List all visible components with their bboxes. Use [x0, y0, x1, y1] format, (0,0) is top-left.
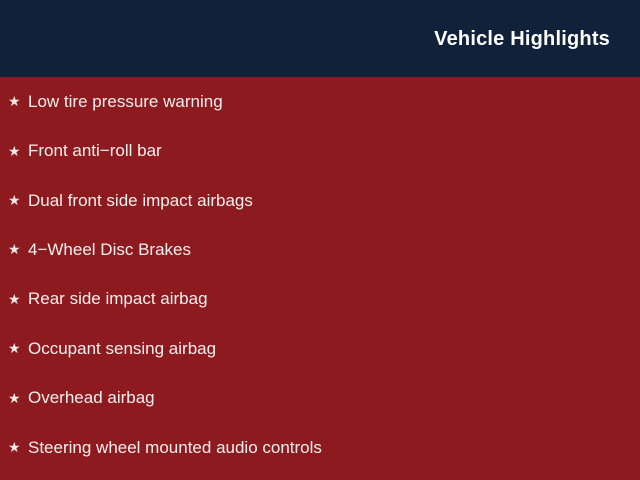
star-icon: ★ [8, 242, 28, 256]
list-item: ★ Steering wheel mounted audio controls [0, 423, 640, 472]
star-icon: ★ [8, 144, 28, 158]
list-item-label: Steering wheel mounted audio controls [28, 438, 640, 458]
star-icon: ★ [8, 341, 28, 355]
list-item: ★ 4−Wheel Disc Brakes [0, 225, 640, 274]
list-item-label: Rear side impact airbag [28, 289, 640, 309]
list-item-label: Low tire pressure warning [28, 92, 640, 112]
list-item-label: 4−Wheel Disc Brakes [28, 240, 640, 260]
star-icon: ★ [8, 440, 28, 454]
star-icon: ★ [8, 94, 28, 108]
list-item: ★ Dual front side impact airbags [0, 176, 640, 225]
list-item: ★ Front anti−roll bar [0, 126, 640, 175]
list-item: ★ Overhead airbag [0, 373, 640, 422]
star-icon: ★ [8, 292, 28, 306]
list-item-label: Front anti−roll bar [28, 141, 640, 161]
list-item: ★ Occupant sensing airbag [0, 324, 640, 373]
star-icon: ★ [8, 193, 28, 207]
vehicle-highlights-list: ★ Low tire pressure warning ★ Front anti… [0, 77, 640, 472]
page-title: Vehicle Highlights [434, 29, 610, 49]
list-item-label: Overhead airbag [28, 388, 640, 408]
slide-header: Vehicle Highlights [0, 0, 640, 77]
list-item: ★ Rear side impact airbag [0, 275, 640, 324]
vehicle-highlights-slide: Vehicle Highlights ★ Low tire pressure w… [0, 0, 640, 480]
list-item-label: Dual front side impact airbags [28, 191, 640, 211]
slide-body: ★ Low tire pressure warning ★ Front anti… [0, 77, 640, 480]
star-icon: ★ [8, 391, 28, 405]
list-item: ★ Low tire pressure warning [0, 77, 640, 126]
list-item-label: Occupant sensing airbag [28, 339, 640, 359]
